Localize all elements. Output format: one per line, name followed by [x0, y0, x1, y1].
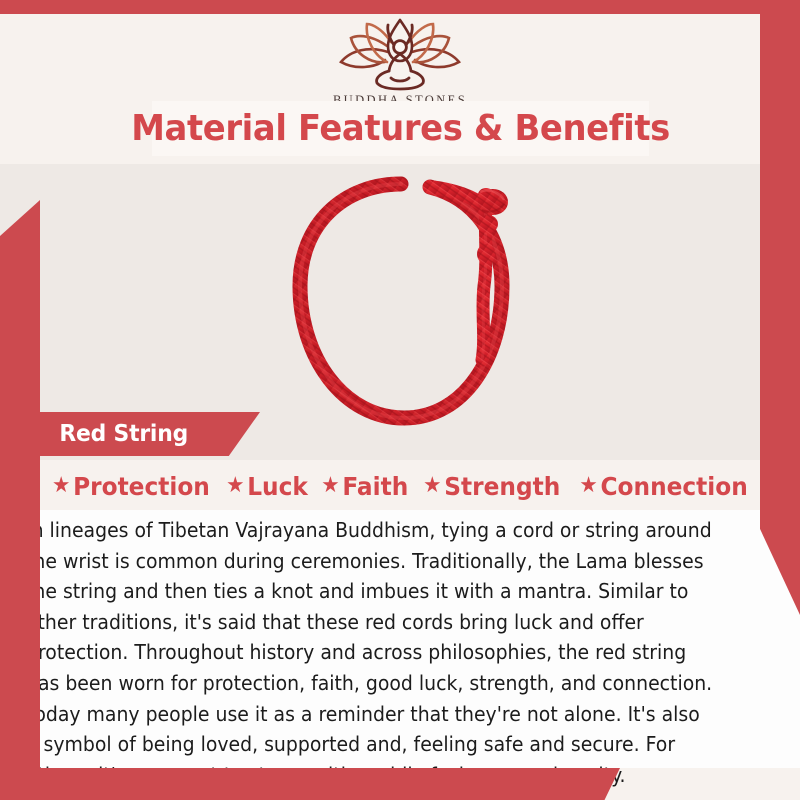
- page-title: Material Features & Benefits: [131, 108, 670, 149]
- frame-right-accent-bar: [760, 0, 800, 615]
- star-icon: ★: [424, 475, 442, 497]
- description-text: In lineages of Tibetan Vajrayana Buddhis…: [26, 515, 712, 790]
- star-icon: ★: [52, 475, 70, 497]
- frame-left-accent-bar: [0, 200, 40, 800]
- benefit-label: Luck: [247, 472, 308, 501]
- frame-top-accent-bar: [0, 0, 800, 14]
- frame-bottom-accent-bar: [0, 768, 620, 800]
- brand-logo: BUDDHA STONES: [0, 16, 800, 108]
- benefit-label: Protection: [73, 472, 210, 501]
- benefit-item-strength: ★ Strength: [424, 472, 561, 501]
- description-panel: In lineages of Tibetan Vajrayana Buddhis…: [0, 510, 800, 768]
- star-icon: ★: [579, 475, 597, 497]
- benefit-item-luck: ★ Luck: [226, 472, 308, 501]
- star-icon: ★: [321, 475, 339, 497]
- product-label: Red String: [59, 421, 188, 447]
- benefits-row: ★ Protection ★ Luck ★ Faith ★ Strength ★…: [0, 462, 800, 510]
- star-icon: ★: [226, 475, 244, 497]
- benefit-item-connection: ★ Connection: [579, 472, 747, 501]
- material-features-infographic: BUDDHA STONES Material Features & Benefi…: [0, 0, 800, 800]
- product-label-ribbon: Red String: [0, 412, 260, 456]
- benefit-label: Strength: [445, 472, 561, 501]
- benefit-item-faith: ★ Faith: [321, 472, 408, 501]
- benefit-item-protection: ★ Protection: [52, 472, 210, 501]
- benefit-label: Connection: [600, 472, 747, 501]
- title-banner: Material Features & Benefits: [152, 101, 649, 156]
- red-string-bracelet-image: [216, 162, 596, 462]
- benefit-label: Faith: [342, 472, 408, 501]
- lotus-meditation-icon: [325, 16, 475, 92]
